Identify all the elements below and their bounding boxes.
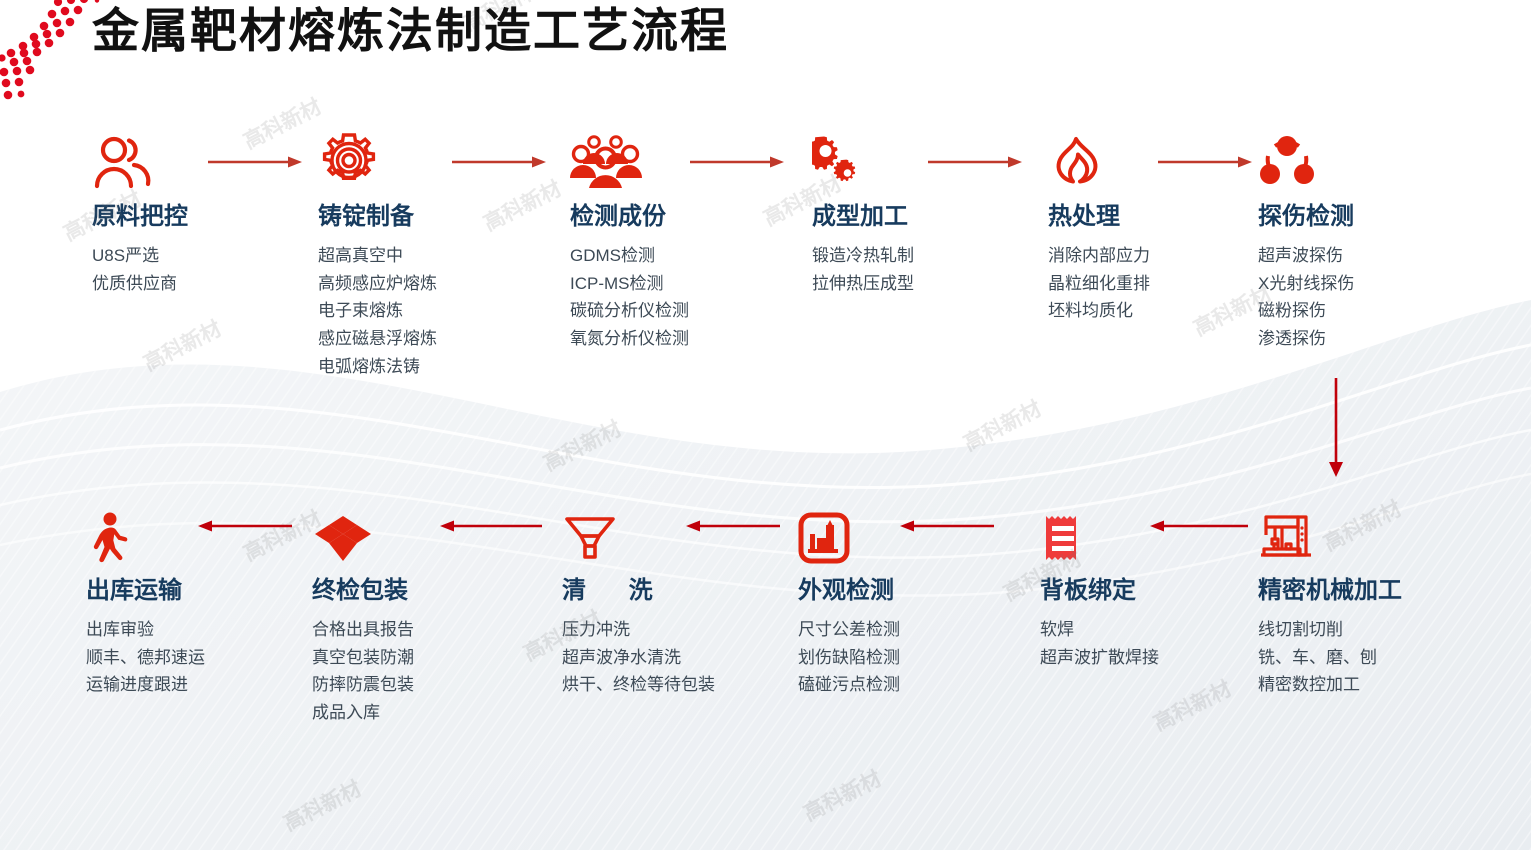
watermark: 高科新材 — [538, 413, 626, 478]
step-title: 检测成份 — [570, 204, 800, 230]
step-detail: 合格出具报告 — [312, 616, 542, 644]
step-flaw-detection[interactable]: 探伤检测 超声波探伤 X光射线探伤 磁粉探伤 渗透探伤 — [1258, 128, 1488, 353]
step-detail: 消除内部应力 — [1048, 242, 1278, 270]
step-detail: ICP-MS检测 — [570, 270, 800, 298]
page-title-container: 金属靶材熔炼法制造工艺流程 — [92, 2, 729, 61]
step-detail: 真空包装防潮 — [312, 644, 542, 672]
step-detail-list: 锻造冷热轧制 拉伸热压成型 — [812, 242, 1042, 297]
step-detail: 出库审验 — [86, 616, 316, 644]
step-detail: 电子束熔炼 — [318, 297, 548, 325]
step-title: 外观检测 — [798, 578, 1028, 604]
step-title: 出库运输 — [86, 578, 316, 604]
open-box-icon — [312, 502, 542, 564]
step-detail: 划伤缺陷检测 — [798, 644, 1028, 672]
step-detail-list: GDMS检测 ICP-MS检测 碳硫分析仪检测 氧氮分析仪检测 — [570, 242, 800, 352]
flow-arrow-down — [1326, 378, 1346, 478]
step-detail: 优质供应商 — [92, 270, 322, 298]
step-detail-list: 超高真空中 高频感应炉熔炼 电子束熔炼 感应磁悬浮熔炼 电弧熔炼法铸 — [318, 242, 548, 380]
step-detail: 磕碰污点检测 — [798, 671, 1028, 699]
step-detail: 铣、车、磨、刨 — [1258, 644, 1488, 672]
step-final-inspection-packaging[interactable]: 终检包装 合格出具报告 真空包装防潮 防摔防震包装 成品入库 — [312, 502, 542, 727]
step-detail: 精密数控加工 — [1258, 671, 1488, 699]
step-detail: 电弧熔炼法铸 — [318, 353, 548, 381]
step-detail: 氧氮分析仪检测 — [570, 325, 800, 353]
step-detail-list: 尺寸公差检测 划伤缺陷检测 磕碰污点检测 — [798, 616, 1028, 699]
watermark: 高科新材 — [278, 773, 366, 838]
step-detail-list: 线切割切削 铣、车、磨、刨 精密数控加工 — [1258, 616, 1488, 699]
step-detail: 碳硫分析仪检测 — [570, 297, 800, 325]
step-detail: 顺丰、德邦速运 — [86, 644, 316, 672]
flow-arrow-left — [196, 519, 292, 533]
step-detail: 线切割切削 — [1258, 616, 1488, 644]
step-detail: 拉伸热压成型 — [812, 270, 1042, 298]
step-title: 背板绑定 — [1040, 578, 1270, 604]
step-detail: 超声波净水清洗 — [562, 644, 792, 672]
step-detail: 磁粉探伤 — [1258, 297, 1488, 325]
step-detail-list: 消除内部应力 晶粒细化重排 坯料均质化 — [1048, 242, 1278, 325]
walking-person-icon — [86, 502, 316, 564]
flow-arrow-right — [452, 155, 548, 169]
step-detail: 超声波探伤 — [1258, 242, 1488, 270]
step-detail: 尺寸公差检测 — [798, 616, 1028, 644]
watermark: 高科新材 — [1148, 673, 1236, 738]
step-detail: 成品入库 — [312, 699, 542, 727]
step-detail: 坯料均质化 — [1048, 297, 1278, 325]
watermark: 高科新材 — [138, 313, 226, 378]
page-title: 金属靶材熔炼法制造工艺流程 — [92, 2, 729, 61]
receipt-icon — [1040, 502, 1270, 564]
step-detail: 感应磁悬浮熔炼 — [318, 325, 548, 353]
step-detail: 软焊 — [1040, 616, 1270, 644]
three-nodes-icon — [1258, 128, 1488, 190]
step-title: 成型加工 — [812, 204, 1042, 230]
step-title: 原料把控 — [92, 204, 322, 230]
step-title: 终检包装 — [312, 578, 542, 604]
step-detail: 超高真空中 — [318, 242, 548, 270]
step-detail: 渗透探伤 — [1258, 325, 1488, 353]
step-title: 探伤检测 — [1258, 204, 1488, 230]
step-forming-processing[interactable]: 成型加工 锻造冷热轧制 拉伸热压成型 — [812, 128, 1042, 297]
step-detail: 压力冲洗 — [562, 616, 792, 644]
factory-badge-icon — [798, 502, 1028, 564]
watermark: 高科新材 — [958, 393, 1046, 458]
step-title: 精密机械加工 — [1258, 578, 1488, 604]
step-detail-list: 压力冲洗 超声波净水清洗 烘干、终检等待包装 — [562, 616, 792, 699]
flow-arrow-left — [438, 519, 542, 533]
step-detail: 防摔防震包装 — [312, 671, 542, 699]
funnel-icon — [562, 502, 792, 564]
step-detail: 锻造冷热轧制 — [812, 242, 1042, 270]
step-detail: 运输进度跟进 — [86, 671, 316, 699]
flow-arrow-right — [690, 155, 786, 169]
step-detail-list: 超声波探伤 X光射线探伤 磁粉探伤 渗透探伤 — [1258, 242, 1488, 352]
step-precision-machining[interactable]: 精密机械加工 线切割切削 铣、车、磨、刨 精密数控加工 — [1258, 502, 1488, 699]
step-detail-list: 出库审验 顺丰、德邦速运 运输进度跟进 — [86, 616, 316, 699]
step-detail: X光射线探伤 — [1258, 270, 1488, 298]
step-detail-list: 软焊 超声波扩散焊接 — [1040, 616, 1270, 671]
flow-arrow-right — [208, 155, 304, 169]
step-detail: 晶粒细化重排 — [1048, 270, 1278, 298]
flow-arrow-left — [898, 519, 994, 533]
step-title: 铸锭制备 — [318, 204, 548, 230]
flow-arrow-right — [1158, 155, 1254, 169]
step-title: 热处理 — [1048, 204, 1278, 230]
watermark: 高科新材 — [798, 763, 886, 828]
flow-arrow-left — [1148, 519, 1248, 533]
step-detail: 高频感应炉熔炼 — [318, 270, 548, 298]
step-detail: GDMS检测 — [570, 242, 800, 270]
flow-arrow-left — [684, 519, 780, 533]
step-raw-material-control[interactable]: 原料把控 U8S严选 优质供应商 — [92, 128, 322, 297]
step-detail: 超声波扩散焊接 — [1040, 644, 1270, 672]
step-detail: 烘干、终检等待包装 — [562, 671, 722, 699]
step-detail-list: 合格出具报告 真空包装防潮 防摔防震包装 成品入库 — [312, 616, 542, 726]
step-title: 清 洗 — [562, 578, 792, 604]
step-detail-list: U8S严选 优质供应商 — [92, 242, 322, 297]
cnc-machine-icon — [1258, 502, 1488, 564]
step-detail: U8S严选 — [92, 242, 322, 270]
flow-arrow-right — [928, 155, 1024, 169]
